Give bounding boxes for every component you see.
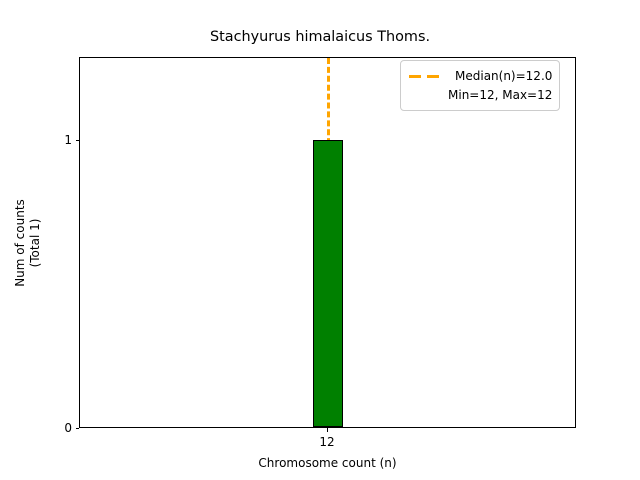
y-tick-label-1: 1	[8, 134, 72, 146]
y-tick-label-0: 0	[8, 422, 72, 434]
chart-legend[interactable]: Median(n)=12.0 Min=12, Max=12	[400, 60, 560, 111]
y-axis-label: Num of counts (Total 1)	[13, 199, 43, 287]
legend-entry-median: Median(n)=12.0	[408, 66, 552, 85]
plot-area	[79, 57, 576, 428]
chart-title: Stachyurus himalaicus Thoms.	[0, 29, 640, 46]
y-axis-label-line-1: Num of counts	[13, 199, 28, 287]
dashed-line-icon	[408, 70, 446, 82]
legend-label-median: Median(n)=12.0	[455, 69, 552, 83]
legend-entry-minmax: Min=12, Max=12	[408, 85, 552, 104]
y-axis-label-line-2: (Total 1)	[28, 199, 43, 287]
y-axis-label-container: Num of counts (Total 1)	[14, 57, 42, 428]
x-axis-label: Chromosome count (n)	[79, 456, 576, 470]
chart-figure: Stachyurus himalaicus Thoms. Num of coun…	[0, 0, 640, 480]
x-tick-label-12: 12	[319, 436, 334, 448]
bar-12[interactable]	[313, 140, 343, 427]
x-tick-mark-12	[327, 428, 328, 432]
legend-label-minmax: Min=12, Max=12	[448, 88, 552, 102]
y-tick-mark-0	[76, 428, 80, 429]
